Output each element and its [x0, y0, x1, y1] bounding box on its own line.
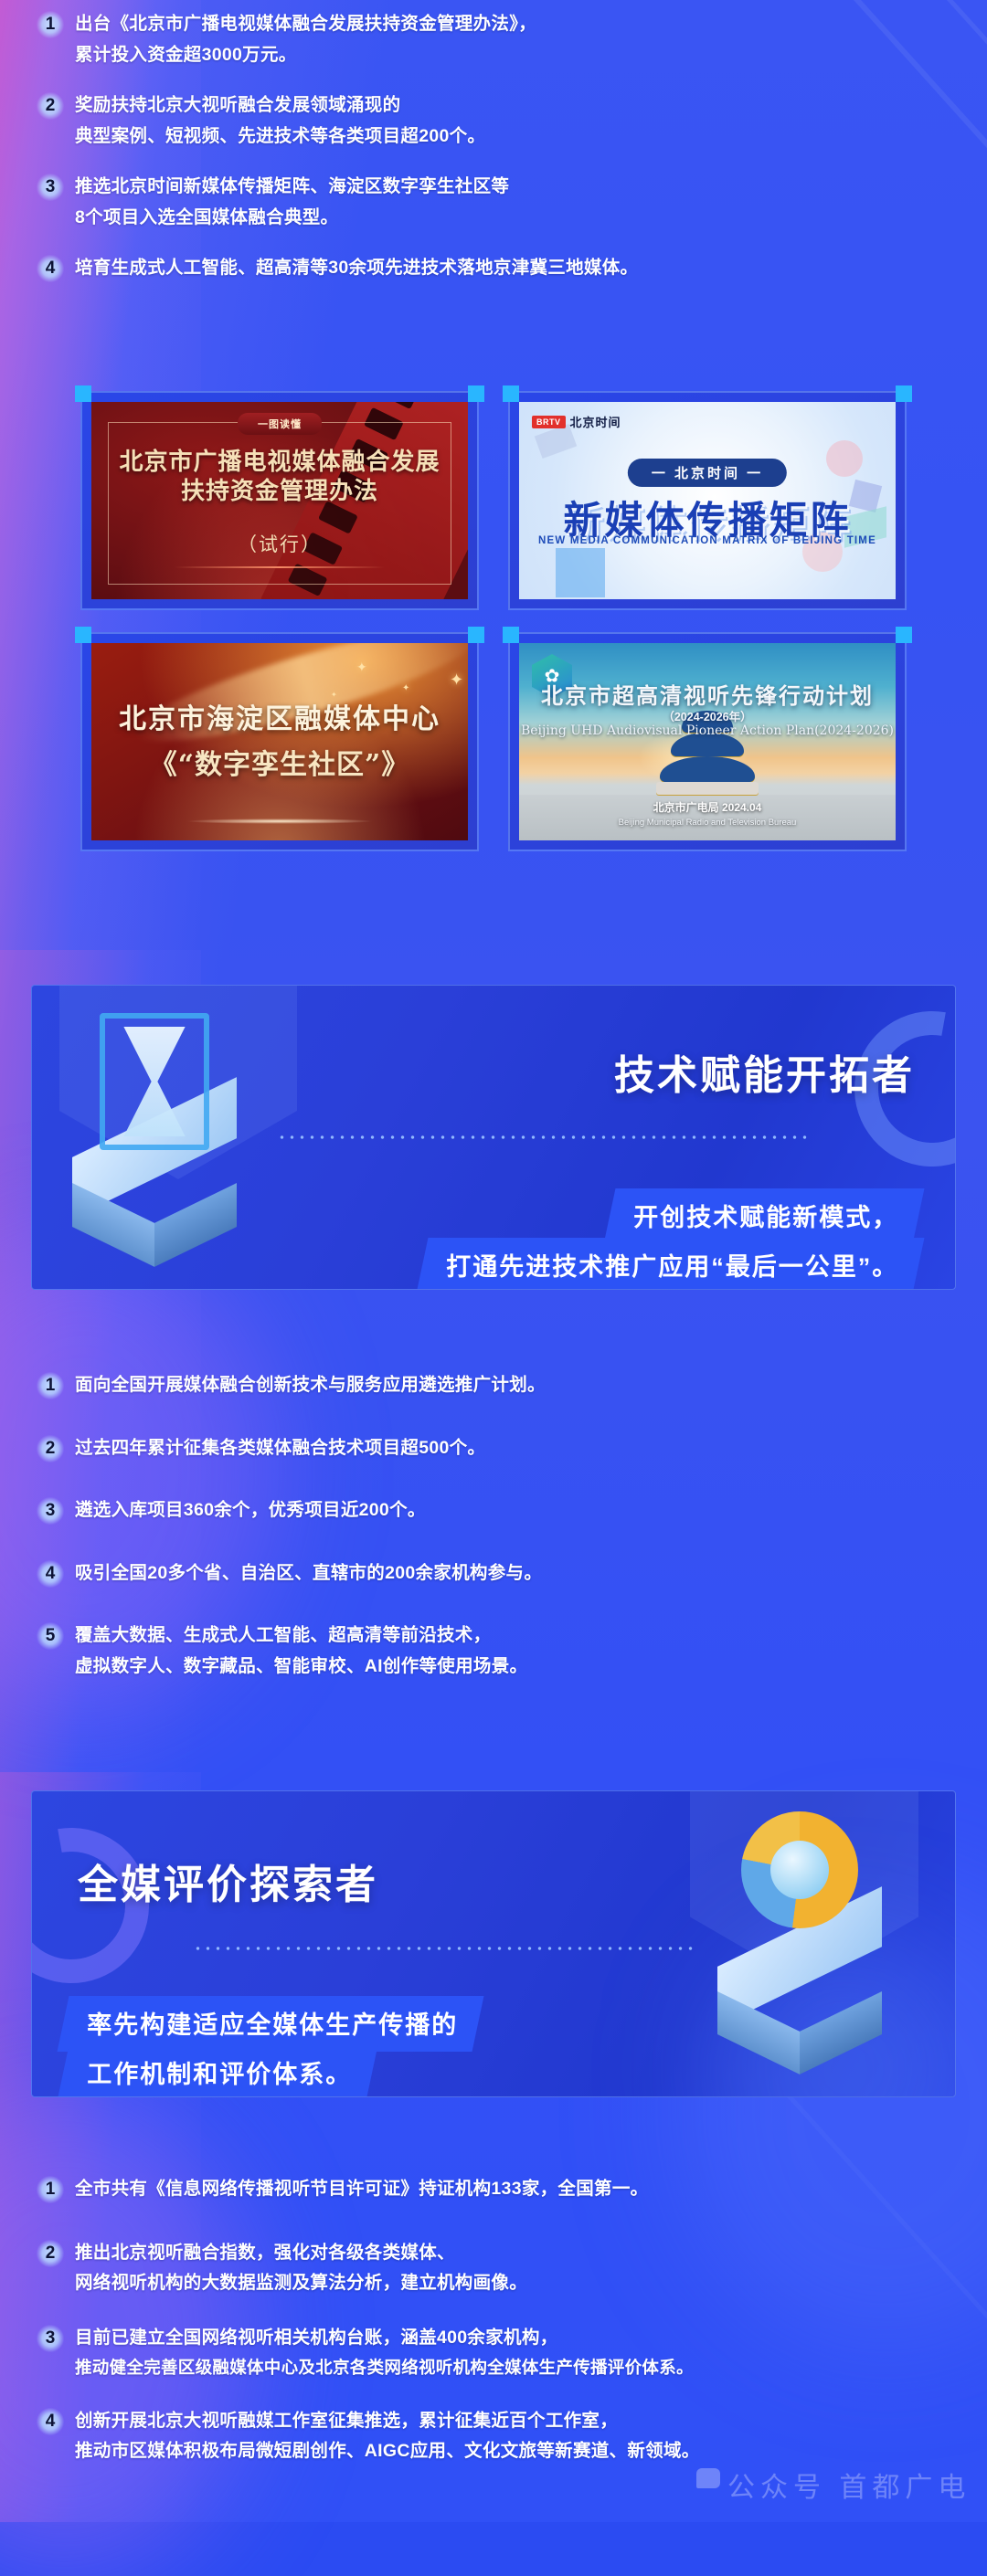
- poster-badge: 一图读懂: [238, 413, 322, 435]
- poster-divider: [175, 566, 386, 568]
- list-line: 推出北京视听融合指数，强化对各级各类媒体、: [75, 2238, 527, 2269]
- section-heading-eval: 全媒评价探索者: [78, 1852, 378, 1910]
- section-tag-label: 开创技术赋能新模式，: [633, 1198, 898, 1233]
- list-line: 8个项目入选全国媒体融合典型。: [75, 203, 509, 234]
- list-line: 培育生成式人工智能、超高清等30余项先进技术落地京津冀三地媒体。: [75, 253, 638, 284]
- section-dot-divider: [193, 1947, 695, 1950]
- poster-footer-en: Beijing Municipal Radio and Television B…: [519, 818, 896, 828]
- poster-title-line1: 北京市广播电视媒体融合发展: [91, 448, 468, 477]
- list-item: 3 遴选入库项目360余个，优秀项目近200个。: [37, 1495, 987, 1526]
- list-number: 2: [37, 2240, 64, 2267]
- section-tag: 工作机制和评价体系。: [58, 2045, 378, 2097]
- list-item: 4 创新开展北京大视听融媒工作室征集推选，累计征集近百个工作室， 推动市区媒体积…: [37, 2406, 987, 2467]
- poster-image-uhd-plan: ✿ 北京市超高清视听先锋行动计划 （2024-2026年） Beijing UH…: [519, 643, 896, 840]
- list-item: 2 奖励扶持北京大视听融合发展领域涌现的 典型案例、短视频、先进技术等各类项目超…: [37, 90, 987, 152]
- list-text: 奖励扶持北京大视听融合发展领域涌现的 典型案例、短视频、先进技术等各类项目超20…: [75, 90, 485, 152]
- list-text: 目前已建立全国网络视听相关机构台账，涵盖400余家机构， 推动健全完善区级融媒体…: [75, 2323, 694, 2382]
- poster-year: （2024-2026年）: [519, 707, 896, 724]
- list-item: 3 推选北京时间新媒体传播矩阵、海淀区数字孪生社区等 8个项目入选全国媒体融合典…: [37, 172, 987, 233]
- list-text: 面向全国开展媒体融合创新技术与服务应用遴选推广计划。: [75, 1370, 546, 1401]
- list-text: 过去四年累计征集各类媒体融合技术项目超500个。: [75, 1433, 485, 1464]
- brtv-mark: BRTV: [532, 416, 566, 428]
- eval-list: 1 全市共有《信息网络传播视听节目许可证》持证机构133家，全国第一。 2 推出…: [0, 2174, 987, 2476]
- hourglass-trophy-icon: [63, 1008, 246, 1236]
- section-tag-label: 率先构建适应全媒体生产传播的: [87, 2005, 458, 2041]
- poster-image-haidian-twin: ✦ ✦ ✦ ✦ 北京市海淀区融媒体中心 《“数字孪生社区”》: [91, 643, 468, 840]
- list-number: 3: [37, 2325, 64, 2352]
- watermark-text: 公众号 首都广电: [727, 2465, 971, 2505]
- list-line: 遴选入库项目360余个，优秀项目近200个。: [75, 1495, 426, 1526]
- list-item: 3 目前已建立全国网络视听相关机构台账，涵盖400余家机构， 推动健全完善区级融…: [37, 2323, 987, 2382]
- list-text: 遴选入库项目360余个，优秀项目近200个。: [75, 1495, 426, 1526]
- poster-title-line2: 扶持资金管理办法: [91, 477, 468, 506]
- list-line: 覆盖大数据、生成式人工智能、超高清等前沿技术，: [75, 1621, 527, 1652]
- poster-pill: 一 北京时间 一: [628, 459, 787, 487]
- list-item: 2 过去四年累计征集各类媒体融合技术项目超500个。: [37, 1433, 987, 1464]
- section-heading-tech: 技术赋能开拓者: [614, 1042, 915, 1101]
- donut-chart-trophy-icon: [699, 1808, 900, 2045]
- list-text: 创新开展北京大视听融媒工作室征集推选，累计征集近百个工作室， 推动市区媒体积极布…: [75, 2406, 700, 2467]
- poster-subtitle: （试行）: [91, 530, 468, 557]
- poster-subtitle: 《“数字孪生社区”》: [91, 742, 468, 782]
- list-item: 4 吸引全国20多个省、自治区、直辖市的200余家机构参与。: [37, 1558, 987, 1589]
- list-line: 创新开展北京大视听融媒工作室征集推选，累计征集近百个工作室，: [75, 2406, 700, 2437]
- poster-title: 北京市海淀区融媒体中心: [91, 696, 468, 736]
- funding-list: 1 出台《北京市广播电视媒体融合发展扶持资金管理办法》， 累计投入资金超3000…: [0, 9, 987, 293]
- btime-logo: BRTV 北京时间: [532, 413, 621, 430]
- list-text: 推选北京时间新媒体传播矩阵、海淀区数字孪生社区等 8个项目入选全国媒体融合典型。: [75, 172, 509, 233]
- section-tag-label: 工作机制和评价体系。: [87, 2054, 352, 2090]
- list-number: 3: [37, 174, 64, 201]
- section-tag: 开创技术赋能新模式，: [604, 1188, 925, 1244]
- section-tag-label: 打通先进技术推广应用“最后一公里”。: [446, 1247, 898, 1283]
- list-line: 推动市区媒体积极布局微短剧创作、AIGC应用、文化文旅等新赛道、新领域。: [75, 2436, 700, 2467]
- list-number: 4: [37, 255, 64, 282]
- speech-bubble-icon: [696, 2468, 720, 2488]
- poster-card-haidian-twin[interactable]: ✦ ✦ ✦ ✦ 北京市海淀区融媒体中心 《“数字孪生社区”》: [80, 632, 479, 851]
- list-number: 2: [37, 92, 64, 120]
- poster-glow-bar: [186, 818, 374, 824]
- list-number: 4: [37, 2408, 64, 2435]
- list-item: 4 培育生成式人工智能、超高清等30余项先进技术落地京津冀三地媒体。: [37, 253, 987, 284]
- poster-title: 北京市广播电视媒体融合发展 扶持资金管理办法: [91, 448, 468, 506]
- list-line: 目前已建立全国网络视听相关机构台账，涵盖400余家机构，: [75, 2323, 694, 2354]
- list-number: 2: [37, 1435, 64, 1462]
- list-item: 1 面向全国开展媒体融合创新技术与服务应用遴选推广计划。: [37, 1370, 987, 1401]
- section-tag: 率先构建适应全媒体生产传播的: [58, 1996, 484, 2052]
- poster-card-btime-matrix[interactable]: BRTV 北京时间 一 北京时间 一 新媒体传播矩阵 NEW MEDIA COM…: [508, 391, 907, 610]
- list-text: 全市共有《信息网络传播视听节目许可证》持证机构133家，全国第一。: [75, 2174, 648, 2205]
- section-dot-divider: [277, 1135, 809, 1139]
- list-line: 推动健全完善区级融媒体中心及北京各类网络视听机构全媒体生产传播评价体系。: [75, 2353, 694, 2382]
- list-line: 面向全国开展媒体融合创新技术与服务应用遴选推广计划。: [75, 1370, 546, 1401]
- poster-footer-cn: 北京市广电局 2024.04: [519, 799, 896, 815]
- poster-image-funding-policy: 一图读懂 北京市广播电视媒体融合发展 扶持资金管理办法 （试行）: [91, 402, 468, 599]
- tech-list: 1 面向全国开展媒体融合创新技术与服务应用遴选推广计划。 2 过去四年累计征集各…: [0, 1370, 987, 1691]
- poster-image-btime-matrix: BRTV 北京时间 一 北京时间 一 新媒体传播矩阵 NEW MEDIA COM…: [519, 402, 896, 599]
- poster-card-uhd-plan[interactable]: ✿ 北京市超高清视听先锋行动计划 （2024-2026年） Beijing UH…: [508, 632, 907, 851]
- section-banner-eval: 全媒评价探索者 率先构建适应全媒体生产传播的 工作机制和评价体系。: [31, 1790, 956, 2097]
- list-number: 1: [37, 11, 64, 38]
- list-text: 吸引全国20多个省、自治区、直辖市的200余家机构参与。: [75, 1558, 542, 1589]
- list-item: 5 覆盖大数据、生成式人工智能、超高清等前沿技术， 虚拟数字人、数字藏品、智能审…: [37, 1621, 987, 1682]
- poster-title: 北京市超高清视听先锋行动计划: [519, 678, 896, 710]
- list-text: 推出北京视听融合指数，强化对各级各类媒体、 网络视听机构的大数据监测及算法分析，…: [75, 2238, 527, 2299]
- list-line: 过去四年累计征集各类媒体融合技术项目超500个。: [75, 1433, 485, 1464]
- section-tag: 打通先进技术推广应用“最后一公里”。: [417, 1238, 925, 1290]
- list-line: 网络视听机构的大数据监测及算法分析，建立机构画像。: [75, 2268, 527, 2299]
- list-line: 推选北京时间新媒体传播矩阵、海淀区数字孪生社区等: [75, 172, 509, 203]
- list-number: 1: [37, 1372, 64, 1399]
- list-text: 培育生成式人工智能、超高清等30余项先进技术落地京津冀三地媒体。: [75, 253, 638, 284]
- poster-card-funding-policy[interactable]: 一图读懂 北京市广播电视媒体融合发展 扶持资金管理办法 （试行）: [80, 391, 479, 610]
- list-text: 覆盖大数据、生成式人工智能、超高清等前沿技术， 虚拟数字人、数字藏品、智能审校、…: [75, 1621, 527, 1682]
- list-line: 奖励扶持北京大视听融合发展领域涌现的: [75, 90, 485, 121]
- list-number: 3: [37, 1497, 64, 1525]
- list-item: 1 出台《北京市广播电视媒体融合发展扶持资金管理办法》， 累计投入资金超3000…: [37, 9, 987, 70]
- section-banner-tech: 技术赋能开拓者 开创技术赋能新模式， 打通先进技术推广应用“最后一公里”。: [31, 985, 956, 1290]
- list-line: 虚拟数字人、数字藏品、智能审校、AI创作等使用场景。: [75, 1652, 527, 1683]
- list-line: 累计投入资金超3000万元。: [75, 40, 536, 71]
- list-item: 2 推出北京视听融合指数，强化对各级各类媒体、 网络视听机构的大数据监测及算法分…: [37, 2238, 987, 2299]
- list-line: 出台《北京市广播电视媒体融合发展扶持资金管理办法》，: [75, 9, 536, 40]
- list-line: 典型案例、短视频、先进技术等各类项目超200个。: [75, 121, 485, 153]
- list-line: 吸引全国20多个省、自治区、直辖市的200余家机构参与。: [75, 1558, 542, 1589]
- list-text: 出台《北京市广播电视媒体融合发展扶持资金管理办法》， 累计投入资金超3000万元…: [75, 9, 536, 70]
- list-number: 4: [37, 1560, 64, 1588]
- poster-gallery: 一图读懂 北京市广播电视媒体融合发展 扶持资金管理办法 （试行） BRTV 北京…: [0, 391, 987, 851]
- poster-english-subtitle: NEW MEDIA COMMUNICATION MATRIX OF BEIJIN…: [519, 535, 896, 546]
- list-item: 1 全市共有《信息网络传播视听节目许可证》持证机构133家，全国第一。: [37, 2174, 987, 2205]
- list-line: 全市共有《信息网络传播视听节目许可证》持证机构133家，全国第一。: [75, 2174, 648, 2205]
- list-number: 5: [37, 1622, 64, 1650]
- list-number: 1: [37, 2176, 64, 2203]
- poster-english-subtitle: Beijing UHD Audiovisual Pioneer Action P…: [519, 723, 896, 738]
- btime-logo-cn: 北京时间: [570, 413, 621, 430]
